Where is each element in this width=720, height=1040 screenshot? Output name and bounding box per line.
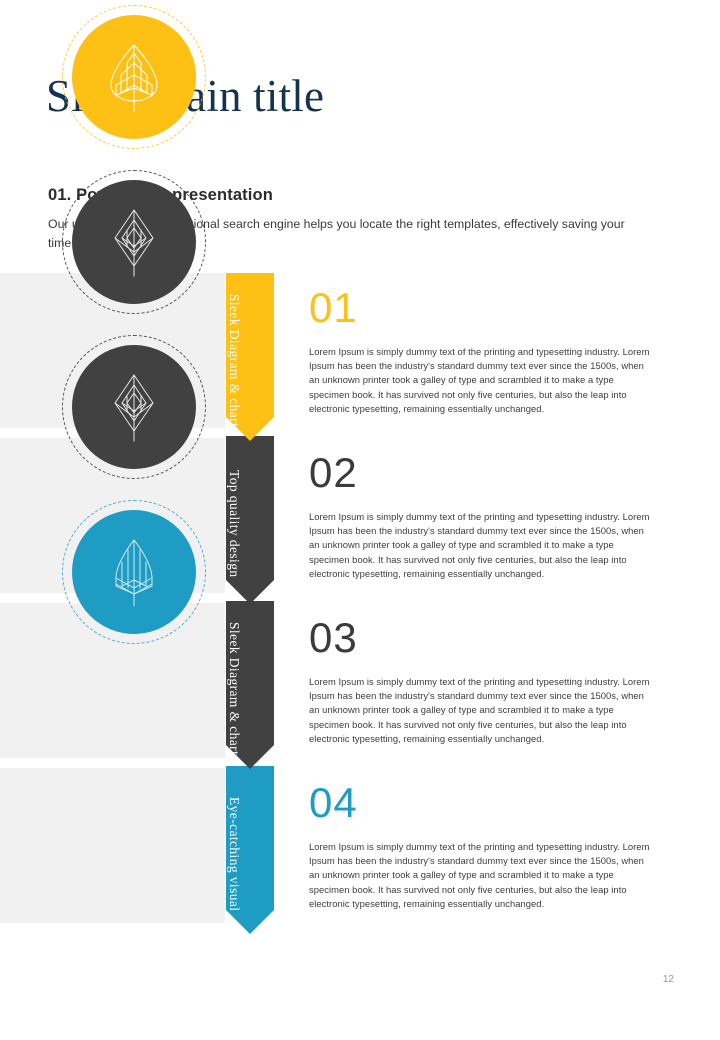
row-band — [0, 768, 225, 923]
presentation-slide: Slide main title 01. Powerpoint presenta… — [0, 0, 720, 1040]
page-number: 12 — [663, 974, 674, 985]
ribbon-label-wrap: Eye-catching visual — [226, 766, 274, 934]
block-number: 04 — [309, 779, 654, 827]
block-number: 01 — [309, 284, 654, 332]
ribbon-label: Sleek Diagram & chart — [226, 622, 242, 755]
ribbon-label: Top quality design — [226, 470, 242, 578]
content-block-1: 01 Lorem Ipsum is simply dummy text of t… — [309, 284, 654, 416]
leaf-geometric-icon — [103, 206, 165, 278]
block-number: 02 — [309, 449, 654, 497]
ribbon-label-wrap: Sleek Diagram & chart — [226, 601, 274, 769]
content-block-4: 04 Lorem Ipsum is simply dummy text of t… — [309, 779, 654, 911]
row-icon-circle-3[interactable] — [72, 345, 196, 469]
ribbon-2[interactable]: Top quality design — [226, 436, 274, 604]
leaf-geometric-icon — [103, 371, 165, 443]
row-icon-circle-4[interactable] — [72, 510, 196, 634]
leaf-veined-icon — [103, 41, 165, 113]
ribbon-label: Sleek Diagram & chart — [226, 294, 242, 427]
ribbon-1[interactable]: Sleek Diagram & chart — [226, 273, 274, 441]
content-block-3: 03 Lorem Ipsum is simply dummy text of t… — [309, 614, 654, 746]
block-paragraph: Lorem Ipsum is simply dummy text of the … — [309, 840, 654, 911]
ribbon-4[interactable]: Eye-catching visual — [226, 766, 274, 934]
ribbon-3[interactable]: Sleek Diagram & chart — [226, 601, 274, 769]
row-icon-circle-1[interactable] — [72, 15, 196, 139]
row-icon-circle-2[interactable] — [72, 180, 196, 304]
block-paragraph: Lorem Ipsum is simply dummy text of the … — [309, 675, 654, 746]
leaf-striped-icon — [103, 536, 165, 608]
ribbon-label-wrap: Sleek Diagram & chart — [226, 273, 274, 441]
block-paragraph: Lorem Ipsum is simply dummy text of the … — [309, 345, 654, 416]
block-number: 03 — [309, 614, 654, 662]
block-paragraph: Lorem Ipsum is simply dummy text of the … — [309, 510, 654, 581]
content-block-2: 02 Lorem Ipsum is simply dummy text of t… — [309, 449, 654, 581]
ribbon-label-wrap: Top quality design — [226, 436, 274, 604]
ribbon-label: Eye-catching visual — [226, 797, 242, 911]
